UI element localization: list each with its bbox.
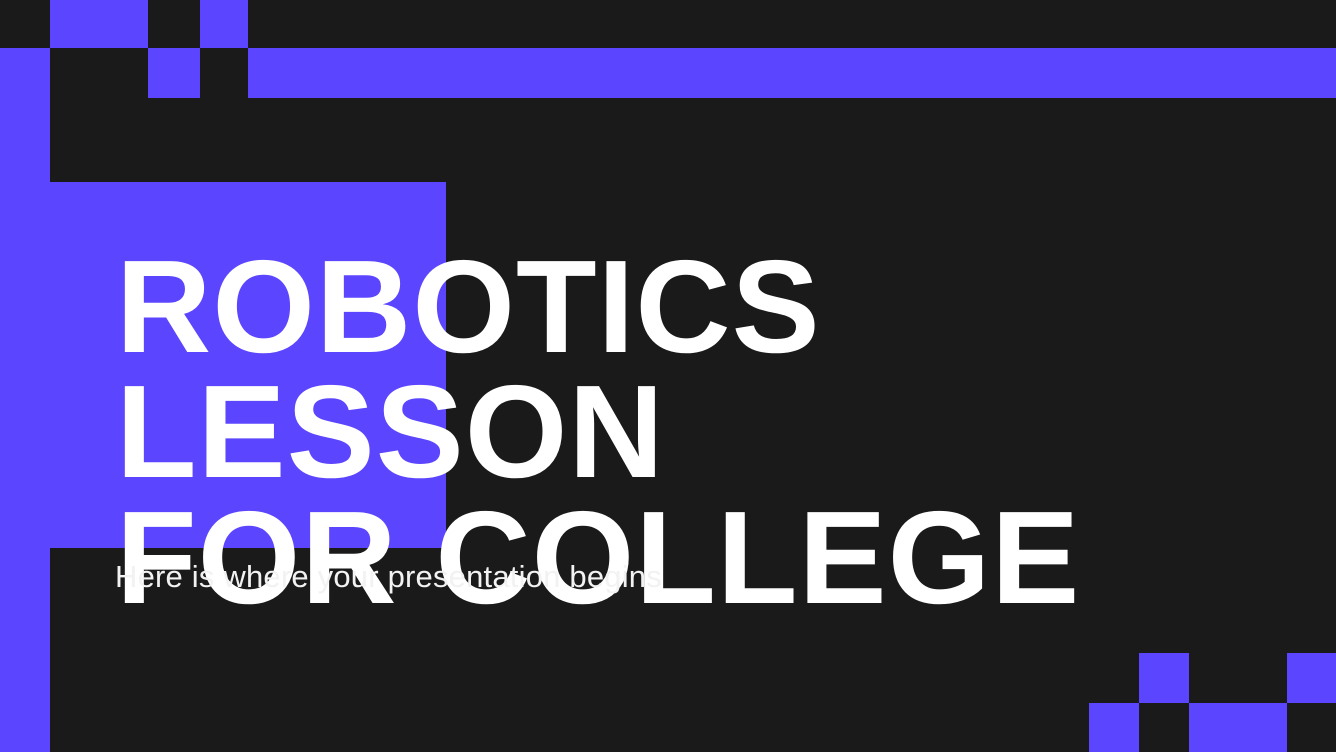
decor-square-bottom-right-2 <box>1287 653 1336 703</box>
decor-top-bar <box>248 48 1336 98</box>
decor-square-top-left-4 <box>148 48 200 98</box>
decor-square-top-left-3 <box>0 48 50 98</box>
decor-square-top-left-1 <box>50 0 148 48</box>
decor-square-bottom-right-4 <box>1189 703 1287 752</box>
presentation-slide: Robotics Lesson for College Here is wher… <box>0 0 1336 752</box>
decor-square-bottom-right-1 <box>1139 653 1189 703</box>
decor-square-top-left-2 <box>200 0 248 48</box>
slide-subtitle: Here is where your presentation begins <box>115 558 662 595</box>
decor-square-bottom-right-3 <box>1089 703 1139 752</box>
